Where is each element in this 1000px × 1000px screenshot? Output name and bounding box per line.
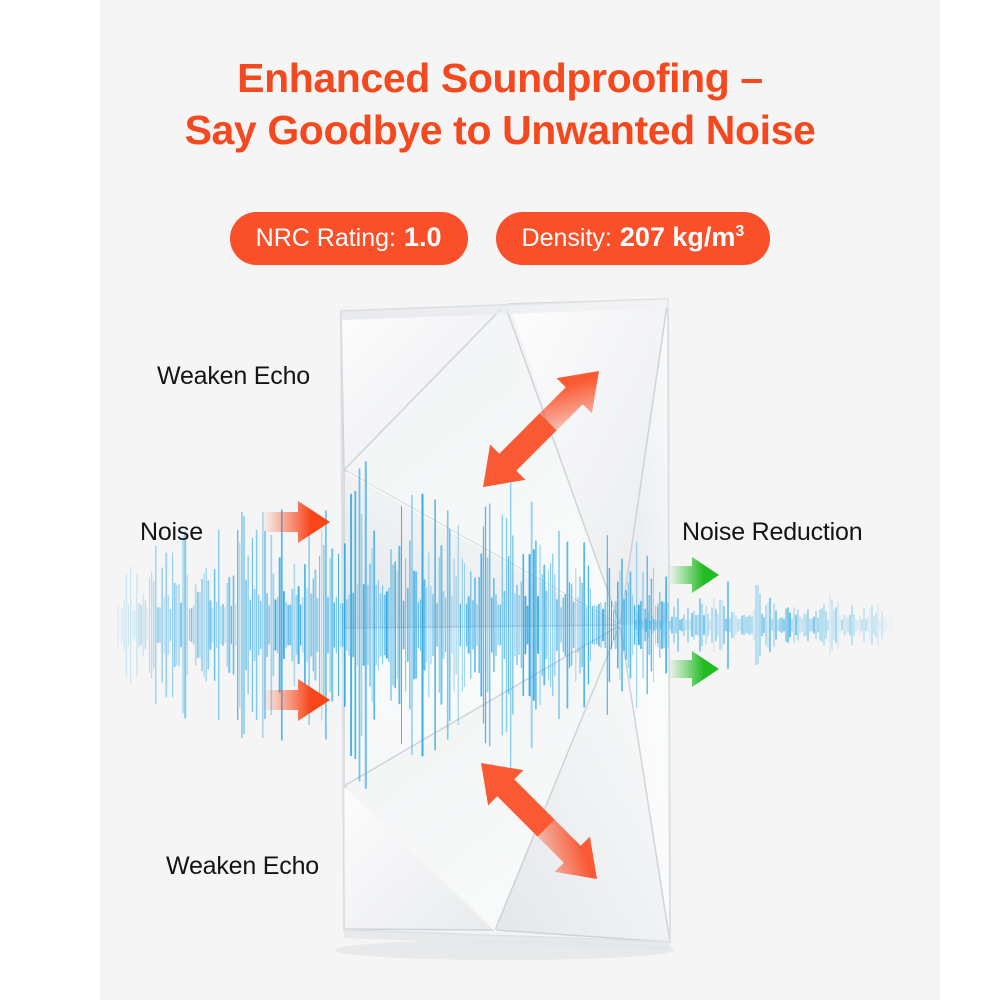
- label-weaken-echo-top: Weaken Echo: [157, 362, 310, 391]
- noise-reduction-arrow-upper: [668, 557, 719, 593]
- label-noise: Noise: [140, 518, 203, 547]
- label-weaken-echo-bottom: Weaken Echo: [166, 852, 319, 881]
- label-noise-reduction: Noise Reduction: [682, 518, 862, 547]
- soundproofing-diagram: [0, 0, 1000, 1000]
- noise-arrow-upper: [262, 501, 330, 543]
- noise-reduction-arrow-lower: [668, 651, 719, 687]
- infographic-canvas: Enhanced Soundproofing – Say Goodbye to …: [0, 0, 1000, 1000]
- reduced-noise-waveform: [636, 582, 892, 668]
